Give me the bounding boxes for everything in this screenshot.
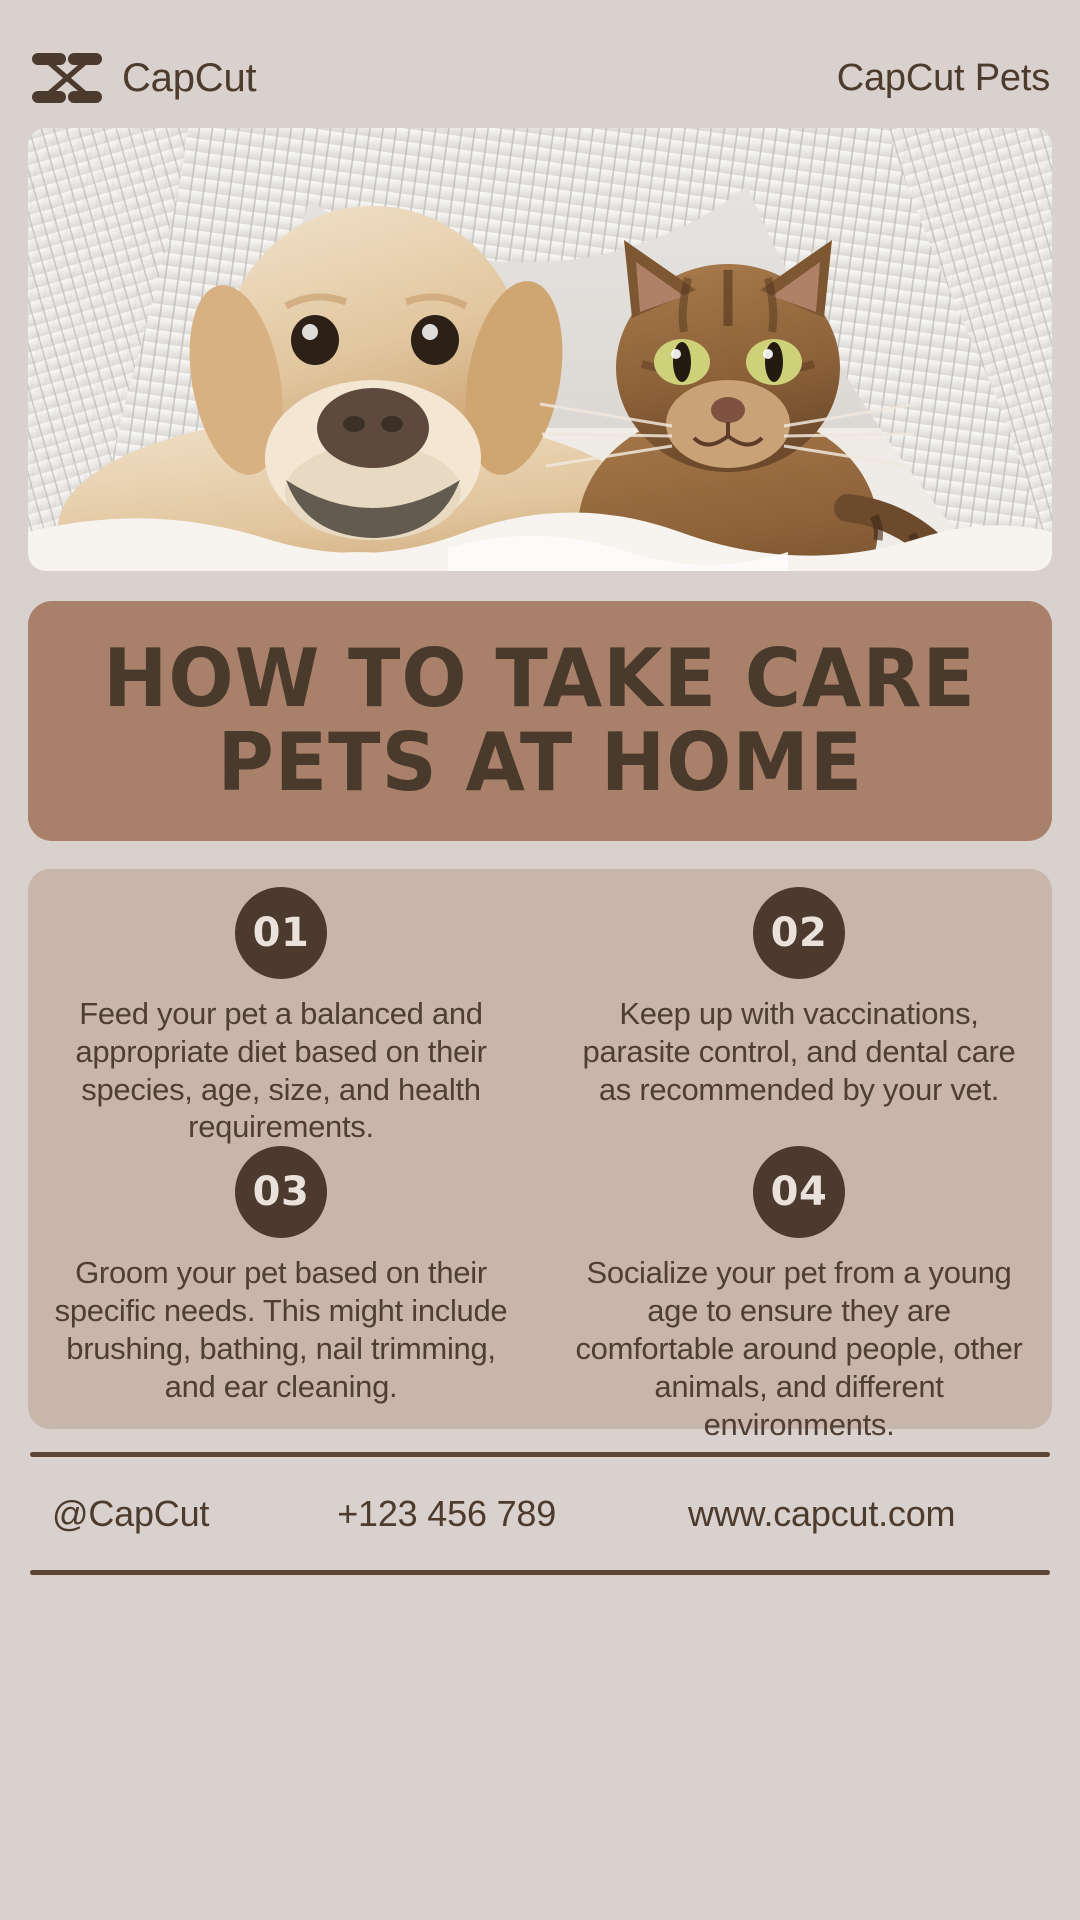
page-title-line-1: HOW TO TAKE CARE <box>104 640 977 718</box>
page-title-line-2: PETS AT HOME <box>217 724 863 802</box>
tip-text: Feed your pet a balanced and appropriate… <box>50 995 512 1146</box>
tip-card-03: 03 Groom your pet based on their specifi… <box>28 1146 534 1443</box>
brand-block: CapCut <box>30 47 256 109</box>
tip-text: Groom your pet based on their specific n… <box>50 1254 512 1405</box>
tip-number-badge: 01 <box>235 887 327 979</box>
footer-phone[interactable]: +123 456 789 <box>337 1493 556 1535</box>
footer-contact-row: @CapCut +123 456 789 www.capcut.com <box>30 1458 1050 1570</box>
tip-number-badge: 03 <box>235 1146 327 1238</box>
title-banner: HOW TO TAKE CARE PETS AT HOME <box>28 601 1052 841</box>
header-right-label: CapCut Pets <box>837 59 1050 97</box>
footer-divider-bottom <box>30 1570 1050 1575</box>
footer-website[interactable]: www.capcut.com <box>688 1493 955 1535</box>
footer-divider-top <box>30 1452 1050 1457</box>
tip-card-02: 02 Keep up with vaccinations, parasite c… <box>546 887 1052 1146</box>
tip-card-01: 01 Feed your pet a balanced and appropri… <box>28 887 534 1146</box>
hero-photo <box>28 128 1052 571</box>
page-header: CapCut CapCut Pets <box>30 42 1050 114</box>
brand-name: CapCut <box>122 58 256 98</box>
tip-card-04: 04 Socialize your pet from a young age t… <box>546 1146 1052 1443</box>
footer-social-handle[interactable]: @CapCut <box>52 1493 209 1535</box>
tips-panel: 01 Feed your pet a balanced and appropri… <box>28 869 1052 1429</box>
tip-text: Keep up with vaccinations, parasite cont… <box>568 995 1030 1108</box>
capcut-logo-icon <box>30 47 106 109</box>
tip-number-badge: 02 <box>753 887 845 979</box>
tip-number-badge: 04 <box>753 1146 845 1238</box>
infographic-page: CapCut CapCut Pets <box>0 0 1080 1920</box>
tip-text: Socialize your pet from a young age to e… <box>568 1254 1030 1443</box>
